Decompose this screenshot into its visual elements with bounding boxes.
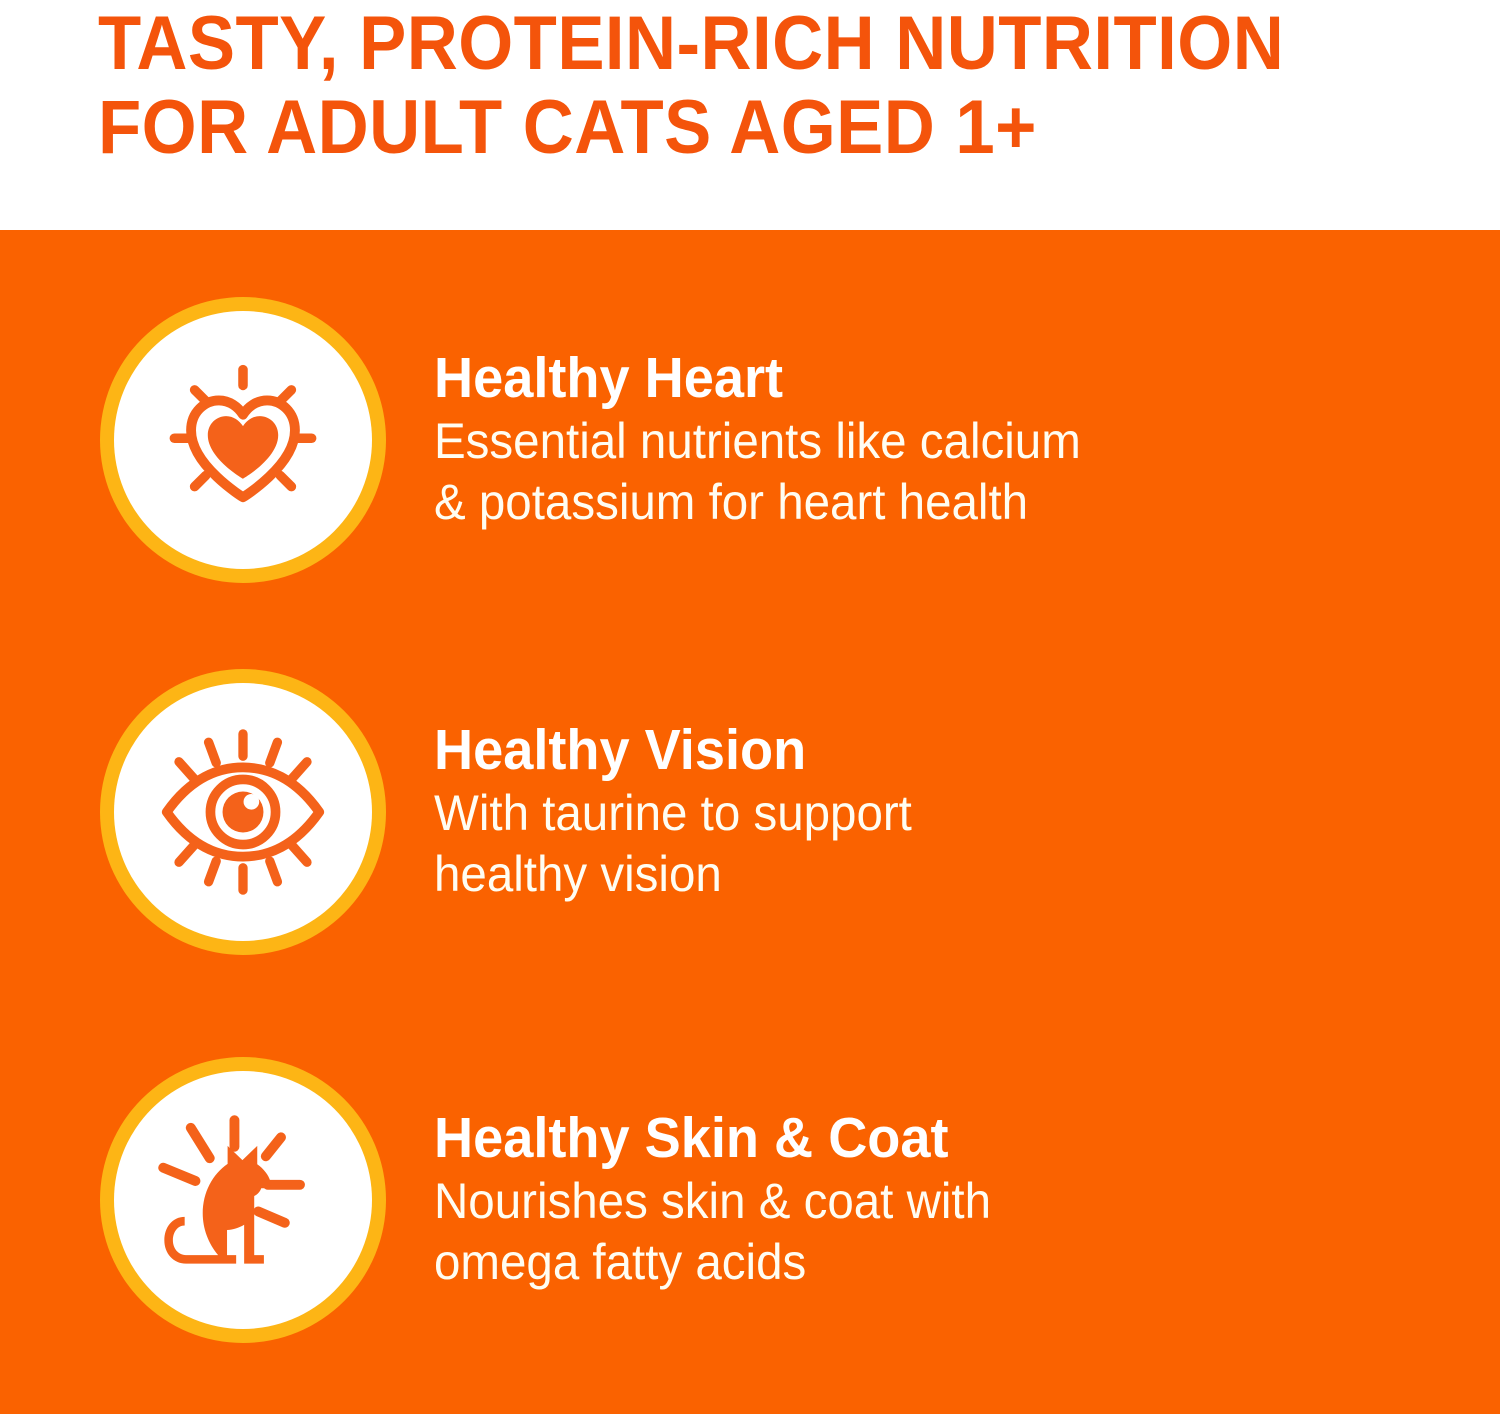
benefits-panel: Healthy Heart Essential nutrients like c… bbox=[0, 230, 1500, 1414]
heart-rays-icon bbox=[155, 352, 331, 528]
benefit-title: Healthy Heart bbox=[434, 347, 1289, 409]
eye-rays-icon bbox=[150, 719, 336, 905]
benefit-copy: Healthy Heart Essential nutrients like c… bbox=[434, 347, 1334, 533]
benefit-copy: Healthy Skin & Coat Nourishes skin & coa… bbox=[434, 1107, 1334, 1293]
benefit-icon-disc bbox=[114, 683, 372, 941]
benefit-icon-disc bbox=[114, 1071, 372, 1329]
benefit-row-healthy-heart: Healthy Heart Essential nutrients like c… bbox=[0, 290, 1500, 590]
header-banner: TASTY, PROTEIN-RICH NUTRITION FOR ADULT … bbox=[0, 0, 1500, 230]
benefit-icon-disc bbox=[114, 311, 372, 569]
benefit-row-healthy-vision: Healthy Vision With taurine to support h… bbox=[0, 662, 1500, 962]
benefit-icon-badge bbox=[100, 1057, 386, 1343]
benefit-title: Healthy Vision bbox=[434, 719, 1289, 781]
cat-rays-icon bbox=[148, 1105, 338, 1295]
benefit-icon-badge bbox=[100, 297, 386, 583]
benefit-title: Healthy Skin & Coat bbox=[434, 1107, 1289, 1169]
benefit-copy: Healthy Vision With taurine to support h… bbox=[434, 719, 1334, 905]
benefit-description: Nourishes skin & coat with omega fatty a… bbox=[434, 1171, 1289, 1293]
benefit-description: With taurine to support healthy vision bbox=[434, 783, 1289, 905]
infographic-page: TASTY, PROTEIN-RICH NUTRITION FOR ADULT … bbox=[0, 0, 1500, 1414]
benefit-row-healthy-skin-coat: Healthy Skin & Coat Nourishes skin & coa… bbox=[0, 1050, 1500, 1350]
benefit-icon-badge bbox=[100, 669, 386, 955]
benefit-description: Essential nutrients like calcium & potas… bbox=[434, 411, 1289, 533]
page-headline: TASTY, PROTEIN-RICH NUTRITION FOR ADULT … bbox=[98, 2, 1402, 170]
benefits-list: Healthy Heart Essential nutrients like c… bbox=[0, 230, 1500, 1414]
